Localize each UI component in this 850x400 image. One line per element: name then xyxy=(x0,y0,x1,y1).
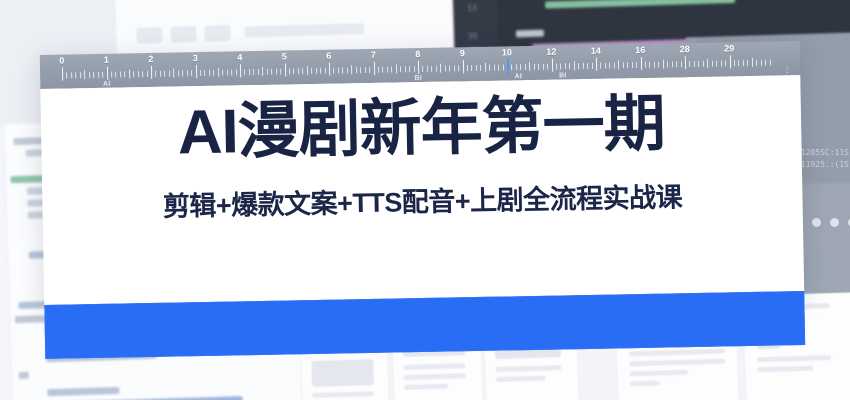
ruler-minor-tick xyxy=(654,62,655,68)
ruler-minor-tick xyxy=(378,67,379,73)
ruler-number: 0 xyxy=(59,56,64,66)
ruler-minor-tick xyxy=(494,65,495,71)
ruler-minor-tick xyxy=(333,68,334,74)
ruler-number: 12 xyxy=(546,47,556,57)
ruler-minor-tick xyxy=(743,60,744,66)
skeleton-image xyxy=(311,359,374,387)
ruler-minor-tick xyxy=(213,70,214,76)
ruler-minor-tick xyxy=(703,61,704,67)
ruler-major-tick xyxy=(685,56,686,69)
ruler-minor-tick xyxy=(133,71,134,77)
ruler-minor-tick xyxy=(267,69,268,75)
ruler-minor-tick xyxy=(356,67,357,73)
ruler-minor-tick xyxy=(649,62,650,68)
ruler-mid-tick xyxy=(218,68,219,77)
ruler-minor-tick xyxy=(182,70,183,76)
ruler-minor-tick xyxy=(569,63,570,69)
ruler-minor-tick xyxy=(672,61,673,67)
ruler-minor-tick xyxy=(138,71,139,77)
ruler-minor-tick xyxy=(587,63,588,69)
ruler-minor-tick xyxy=(147,71,148,77)
ruler-minor-tick xyxy=(614,62,615,68)
ruler-minor-tick xyxy=(556,64,557,70)
ruler-major-tick xyxy=(418,61,419,74)
ruler-mid-tick xyxy=(396,64,397,73)
ruler-minor-tick xyxy=(298,68,299,74)
ruler-number: 6 xyxy=(326,51,331,61)
ruler-number: 9 xyxy=(460,48,465,58)
ruler-minor-tick xyxy=(115,72,116,78)
ruler-minor-tick xyxy=(765,60,766,66)
skeleton-line xyxy=(630,370,688,377)
ruler-minor-tick xyxy=(422,66,423,72)
ruler-minor-tick xyxy=(111,72,112,78)
ruler-minor-tick xyxy=(681,61,682,67)
ruler-minor-tick xyxy=(382,67,383,73)
ruler-number: 1 xyxy=(104,55,109,65)
ruler-minor-tick xyxy=(253,69,254,75)
ruler-minor-tick xyxy=(721,60,722,66)
ruler-minor-tick xyxy=(227,70,228,76)
ruler-mid-tick xyxy=(529,62,530,71)
ruler-number: 2 xyxy=(148,54,153,64)
ruler-minor-tick xyxy=(169,71,170,77)
ruler-mid-tick xyxy=(84,70,85,79)
ruler-minor-tick xyxy=(98,72,99,78)
page-subtitle: 剪辑+爆款文案+TTS配音+上剧全流程实战课 xyxy=(162,175,682,224)
ruler-minor-tick xyxy=(222,70,223,76)
code-token xyxy=(545,0,735,9)
code-line-number: 13 xyxy=(467,4,477,13)
ruler-minor-tick xyxy=(142,71,143,77)
ruler-major-tick xyxy=(596,58,597,71)
ruler-minor-tick xyxy=(761,60,762,66)
code-gutter xyxy=(0,124,14,400)
ruler-minor-tick xyxy=(102,72,103,78)
ruler-minor-tick xyxy=(770,60,771,66)
ruler-minor-tick xyxy=(289,68,290,74)
ruler-minor-tick xyxy=(445,66,446,72)
ruler-mid-tick xyxy=(351,65,352,74)
poster-card-body: AI漫剧新年第一期 剪辑+爆款文案+TTS配音+上剧全流程实战课 xyxy=(40,75,804,307)
ruler-minor-tick xyxy=(160,71,161,77)
ruler-mid-tick xyxy=(173,69,174,78)
ruler-minor-tick xyxy=(276,69,277,75)
ruler-minor-tick xyxy=(689,61,690,67)
ruler-major-tick xyxy=(462,60,463,73)
ruler-minor-tick xyxy=(534,64,535,70)
ruler-minor-tick xyxy=(409,66,410,72)
ruler-minor-tick xyxy=(75,72,76,78)
ruler-minor-tick xyxy=(236,69,237,75)
ruler-minor-tick xyxy=(231,69,232,75)
ruler-mid-tick xyxy=(307,66,308,75)
panel-status-dots xyxy=(812,218,850,227)
skeleton-line xyxy=(630,381,660,387)
ruler-minor-tick xyxy=(293,68,294,74)
ruler-minor-tick xyxy=(258,69,259,75)
ruler-minor-tick xyxy=(271,69,272,75)
skeleton-line xyxy=(629,359,725,367)
ruler-number: 4 xyxy=(237,52,242,62)
ruler-overflow-icon[interactable]: ⋮ xyxy=(783,65,792,74)
page-title: AI漫剧新年第一期 xyxy=(177,94,665,165)
ruler-minor-tick xyxy=(244,69,245,75)
ruler-minor-tick xyxy=(636,62,637,68)
ruler-minor-tick xyxy=(605,63,606,69)
ruler-minor-tick xyxy=(600,63,601,69)
ruler-minor-tick xyxy=(431,66,432,72)
ruler-major-tick xyxy=(151,66,152,79)
toolbar-chip xyxy=(204,25,230,42)
ruler-major-tick xyxy=(284,63,285,76)
ruler-minor-tick xyxy=(405,66,406,72)
ruler-minor-tick xyxy=(747,60,748,66)
ruler-minor-tick xyxy=(645,62,646,68)
ruler-minor-tick xyxy=(667,61,668,67)
ruler-major-tick xyxy=(195,65,196,78)
ruler-number: 16 xyxy=(635,45,645,55)
ruler-minor-tick xyxy=(476,65,477,71)
poster-canvas: 13 35 26 77 45 36 =1205SC:11S =11925.:(1… xyxy=(0,0,850,400)
toolbar-chip xyxy=(170,26,196,43)
ruler-minor-tick xyxy=(80,72,81,78)
ruler-number: 8 xyxy=(415,49,420,59)
ruler-major-tick xyxy=(62,68,63,81)
ruler-mid-tick xyxy=(440,64,441,73)
ruler-minor-tick xyxy=(360,67,361,73)
ruler-minor-tick xyxy=(302,68,303,74)
ruler-minor-tick xyxy=(187,70,188,76)
ruler-minor-tick xyxy=(525,64,526,70)
ruler-minor-tick xyxy=(725,60,726,66)
ruler-minor-tick xyxy=(347,67,348,73)
ruler-minor-tick xyxy=(400,66,401,72)
ruler-major-tick xyxy=(106,67,107,80)
ruler-mid-tick xyxy=(663,60,664,69)
ruler-major-tick xyxy=(729,55,730,68)
ruler-major-tick xyxy=(551,59,552,72)
toolbar-chip xyxy=(136,27,162,44)
ruler-minor-tick xyxy=(716,61,717,67)
ruler-minor-tick xyxy=(89,72,90,78)
ruler-minor-tick xyxy=(316,68,317,74)
ruler-mid-tick xyxy=(618,60,619,69)
ruler-minor-tick xyxy=(427,66,428,72)
panel-faint-number: =11925.:(1S xyxy=(796,160,849,169)
ruler-minor-tick xyxy=(449,65,450,71)
ruler-minor-tick xyxy=(658,62,659,68)
ruler-minor-tick xyxy=(511,64,512,70)
code-token xyxy=(48,396,243,400)
ruler-number: 5 xyxy=(282,51,287,61)
ruler-minor-tick xyxy=(592,63,593,69)
ruler-minor-tick xyxy=(338,68,339,74)
skeleton-line xyxy=(404,384,448,390)
ruler-mid-tick xyxy=(129,69,130,78)
ruler-minor-tick xyxy=(578,63,579,69)
ruler-minor-tick xyxy=(627,62,628,68)
skeleton-line xyxy=(404,373,466,380)
ruler-minor-tick xyxy=(200,70,201,76)
ruler-minor-tick xyxy=(632,62,633,68)
ruler-minor-tick xyxy=(191,70,192,76)
ruler-mid-tick xyxy=(574,61,575,70)
code-token xyxy=(516,30,544,38)
code-token xyxy=(47,387,119,396)
ruler-minor-tick xyxy=(311,68,312,74)
ruler-major-tick xyxy=(329,63,330,76)
ruler-minor-tick xyxy=(756,60,757,66)
ruler-cursor[interactable] xyxy=(507,58,509,74)
poster-card: ⋮ 0123456789101214162829AIBIAIBIBI AI漫剧新… xyxy=(40,41,804,307)
ruler-minor-tick xyxy=(365,67,366,73)
ruler-minor-tick xyxy=(676,61,677,67)
ruler-minor-tick xyxy=(342,67,343,73)
ruler-minor-tick xyxy=(164,71,165,77)
skeleton-line xyxy=(757,355,831,362)
ruler-minor-tick xyxy=(547,64,548,70)
ruler-number: 28 xyxy=(680,44,690,54)
ruler-minor-tick xyxy=(93,72,94,78)
skeleton-line xyxy=(495,365,561,372)
ruler-minor-tick xyxy=(520,64,521,70)
ruler-mid-tick xyxy=(262,67,263,76)
ruler-minor-tick xyxy=(712,61,713,67)
ruler-minor-tick xyxy=(387,67,388,73)
ruler-number: 3 xyxy=(193,53,198,63)
ruler-minor-tick xyxy=(498,65,499,71)
ruler-major-tick xyxy=(640,57,641,70)
ruler-minor-tick xyxy=(503,64,504,70)
skeleton-line xyxy=(757,366,813,373)
ruler-minor-tick xyxy=(454,65,455,71)
skeleton-line xyxy=(629,349,725,357)
ruler-minor-tick xyxy=(391,67,392,73)
code-token xyxy=(19,372,29,379)
ruler-minor-tick xyxy=(320,68,321,74)
ruler-minor-tick xyxy=(120,72,121,78)
ruler-mid-tick xyxy=(485,63,486,72)
ruler-minor-tick xyxy=(369,67,370,73)
ruler-minor-tick xyxy=(204,70,205,76)
ruler-minor-tick xyxy=(738,60,739,66)
ruler-minor-tick xyxy=(583,63,584,69)
toolbar-chip-wide xyxy=(244,23,364,38)
ruler-number: 14 xyxy=(591,46,601,56)
ruler-minor-tick xyxy=(458,65,459,71)
ruler-major-tick xyxy=(240,64,241,77)
code-line-number: 35 xyxy=(468,32,478,41)
ruler-minor-tick xyxy=(178,70,179,76)
ruler-number: 29 xyxy=(724,43,734,53)
ruler-minor-tick xyxy=(609,63,610,69)
ruler-minor-tick xyxy=(538,64,539,70)
ruler-minor-tick xyxy=(67,72,68,78)
ruler-minor-tick xyxy=(623,62,624,68)
skeleton-line xyxy=(312,391,374,398)
ruler-minor-tick xyxy=(209,70,210,76)
ruler-minor-tick xyxy=(471,65,472,71)
ruler-number: 7 xyxy=(371,50,376,60)
ruler-minor-tick xyxy=(480,65,481,71)
ruler-minor-tick xyxy=(543,64,544,70)
ruler-number: 10 xyxy=(502,47,512,57)
ruler-minor-tick xyxy=(734,60,735,66)
ruler-minor-tick xyxy=(325,68,326,74)
ruler-minor-tick xyxy=(467,65,468,71)
ruler-minor-tick xyxy=(698,61,699,67)
ruler-minor-tick xyxy=(516,64,517,70)
skeleton-line xyxy=(496,376,546,382)
ruler-minor-tick xyxy=(560,63,561,69)
ruler-minor-tick xyxy=(489,65,490,71)
ruler-minor-tick xyxy=(156,71,157,77)
ruler-minor-tick xyxy=(694,61,695,67)
ruler-minor-tick xyxy=(436,66,437,72)
ruler-minor-tick xyxy=(71,72,72,78)
panel-faint-number: =1205SC:11S xyxy=(796,148,849,157)
ruler-mid-tick xyxy=(707,59,708,68)
ruler-minor-tick xyxy=(124,71,125,77)
ruler-minor-tick xyxy=(565,63,566,69)
ruler-major-tick xyxy=(373,62,374,75)
skeleton-line xyxy=(403,363,465,370)
ruler-minor-tick xyxy=(280,69,281,75)
ruler-minor-tick xyxy=(249,69,250,75)
ruler-minor-tick xyxy=(414,66,415,72)
ruler-mid-tick xyxy=(752,58,753,67)
